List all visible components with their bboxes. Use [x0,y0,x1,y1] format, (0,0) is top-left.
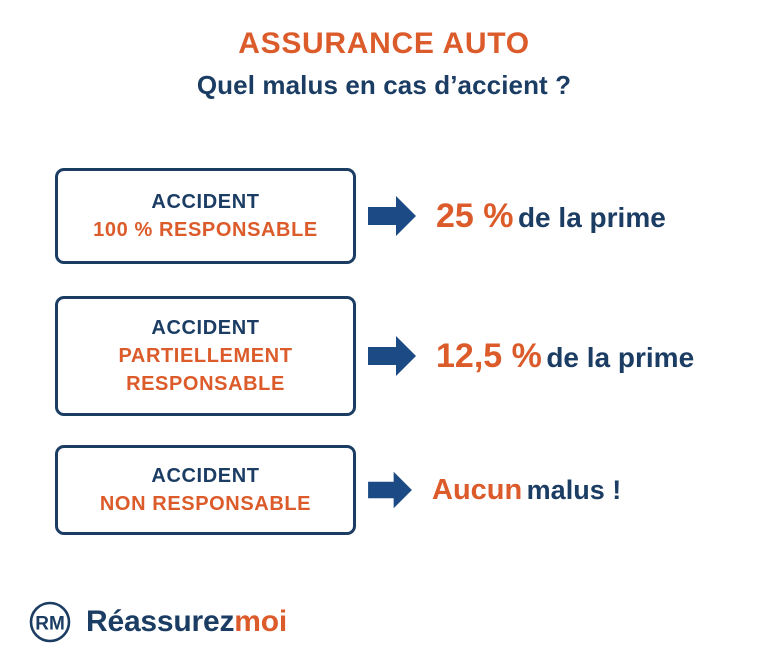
result-highlight: Aucun [432,474,522,506]
brand-name-part2: moi [234,605,287,638]
svg-text:RM: RM [35,614,65,635]
scenario-box-line-2: PARTIELLEMENT [118,342,292,370]
result-text: 12,5 % de la prime [436,339,694,373]
scenario-box-line-1: ACCIDENT [151,314,259,342]
brand-name: Réassurezmoi [86,607,287,637]
page-subtitle: Quel malus en cas d’accient ? [0,68,768,102]
result-text: 25 % de la prime [436,199,666,233]
result-text: Aucun malus ! [432,476,621,505]
scenario-row: ACCIDENT NON RESPONSABLE Aucun malus ! [0,445,768,535]
scenario-box-line-3: RESPONSABLE [126,370,285,398]
brand-logo: RM Réassurezmoi [28,600,287,644]
scenario-box-line-1: ACCIDENT [151,462,259,490]
right-arrow-icon [366,333,418,379]
scenario-box-not-responsible: ACCIDENT NON RESPONSABLE [55,445,356,535]
right-arrow-icon [366,193,418,239]
scenario-box-line-1: ACCIDENT [151,188,259,216]
scenario-row: ACCIDENT 100 % RESPONSABLE 25 % de la pr… [0,168,768,264]
scenario-row: ACCIDENT PARTIELLEMENT RESPONSABLE 12,5 … [0,296,768,416]
header: ASSURANCE AUTO Quel malus en cas d’accie… [0,26,768,102]
rm-monogram-icon: RM [28,600,72,644]
result-highlight: 12,5 % [436,337,542,375]
result-rest: de la prime [518,202,666,233]
result-rest: de la prime [546,342,694,373]
scenario-box-line-2: NON RESPONSABLE [100,490,311,518]
brand-name-part1: Réassurez [86,605,234,638]
scenario-box-fully-responsible: ACCIDENT 100 % RESPONSABLE [55,168,356,264]
result-rest: malus ! [527,475,622,505]
scenario-box-partially-responsible: ACCIDENT PARTIELLEMENT RESPONSABLE [55,296,356,416]
right-arrow-icon [366,469,414,511]
scenario-box-line-2: 100 % RESPONSABLE [93,216,318,244]
page-title: ASSURANCE AUTO [0,26,768,62]
result-highlight: 25 % [436,197,514,235]
